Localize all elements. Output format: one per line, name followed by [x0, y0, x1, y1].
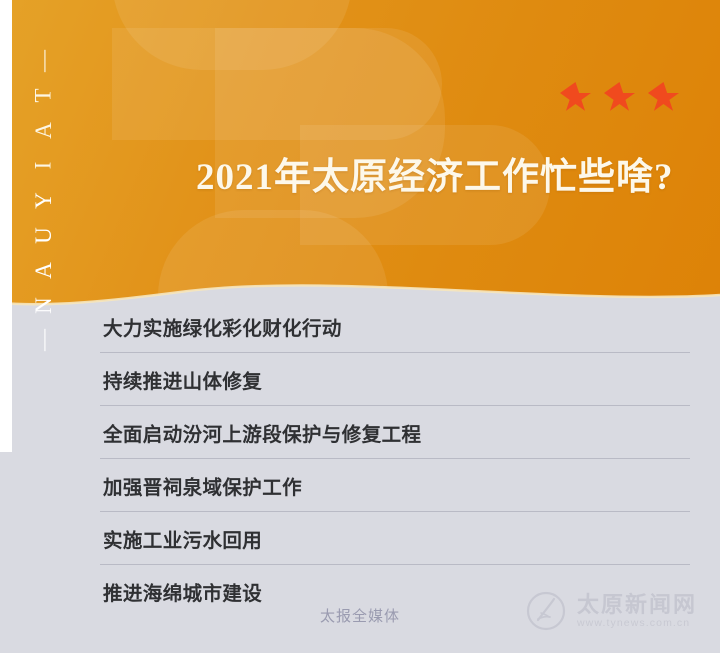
- list-item-label: 推进海绵城市建设: [103, 577, 262, 606]
- list-item[interactable]: 全面启动汾河上游段保护与修复工程: [100, 405, 690, 458]
- list-item[interactable]: 加强晋祠泉域保护工作: [100, 458, 690, 511]
- list-item[interactable]: 持续推进山体修复: [100, 352, 690, 405]
- byline: 太报全媒体: [0, 605, 720, 626]
- list-item-label: 持续推进山体修复: [103, 365, 262, 394]
- list-item-label: 全面启动汾河上游段保护与修复工程: [103, 418, 421, 447]
- left-white-rail: [0, 0, 12, 452]
- list-item-label: 加强晋祠泉域保护工作: [103, 471, 302, 500]
- list-item-label: 大力实施绿化彩化财化行动: [103, 312, 342, 341]
- list-item-label: 实施工业污水回用: [103, 524, 262, 553]
- star-icon: [648, 82, 679, 113]
- list-item[interactable]: 大力实施绿化彩化财化行动: [100, 300, 690, 352]
- page-title: 2021年太原经济工作忙些啥?: [196, 156, 674, 200]
- task-list: 大力实施绿化彩化财化行动 持续推进山体修复 全面启动汾河上游段保护与修复工程 加…: [100, 300, 690, 617]
- star-icon: [604, 82, 635, 113]
- star-icon: [560, 82, 591, 113]
- star-rating-decoration: [560, 82, 679, 113]
- poster-canvas: — T A I Y U A N — 2021年太原经济工作忙些啥? 大力实施绿化…: [0, 0, 720, 653]
- list-item[interactable]: 实施工业污水回用: [100, 511, 690, 564]
